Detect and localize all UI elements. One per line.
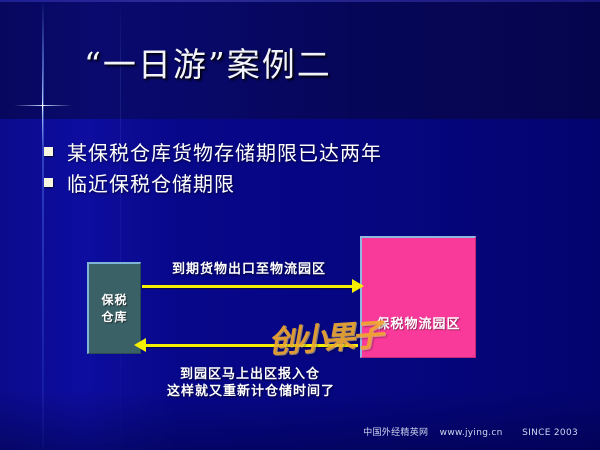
arrow-forward-head-icon: [352, 279, 364, 293]
diagram-box-bonded-logistics-park: 保税物流园区: [360, 236, 476, 358]
footer: 中国外经精英网 www.jying.cn SINCE 2003: [363, 425, 578, 438]
footer-url: www.jying.cn: [440, 428, 503, 438]
footer-site-name: 中国外经精英网: [363, 428, 428, 438]
arrow-forward-line: [142, 285, 358, 288]
diagram-box-label: 保税仓库: [101, 292, 127, 324]
list-item: 某保税仓库货物存储期限已达两年: [44, 136, 524, 167]
arrow-back-head-icon: [134, 338, 146, 352]
diagram-box-label-line1: 保税: [101, 293, 127, 307]
list-item-label: 某保税仓库货物存储期限已达两年: [67, 137, 382, 166]
arrow-back-line: [142, 344, 358, 347]
arrow-back-label-line2: 这样就又重新计仓储时间了: [167, 380, 335, 399]
diagram-box-bonded-warehouse: 保税仓库: [87, 262, 141, 354]
list-item: 临近保税仓储期限: [44, 167, 524, 198]
slide-canvas: “一日游”案例二 某保税仓库货物存储期限已达两年 临近保税仓储期限 保税仓库 保…: [0, 0, 600, 450]
footer-since: SINCE 2003: [522, 428, 578, 438]
diagram-box-label-line2: 仓库: [101, 310, 127, 324]
slide-background-bottom-fade: [0, 390, 600, 450]
sparkle-star-icon: [42, 105, 43, 106]
diagram-box-label: 保税物流园区: [376, 313, 460, 332]
slide-top-hairline: [0, 0, 600, 2]
bullet-list: 某保税仓库货物存储期限已达两年 临近保税仓储期限: [44, 136, 524, 198]
arrow-forward-label: 到期货物出口至物流园区: [172, 258, 326, 277]
list-item-label: 临近保税仓储期限: [67, 168, 235, 197]
bullet-square-icon: [44, 178, 53, 187]
page-title: “一日游”案例二: [84, 38, 332, 86]
bullet-square-icon: [44, 147, 53, 156]
